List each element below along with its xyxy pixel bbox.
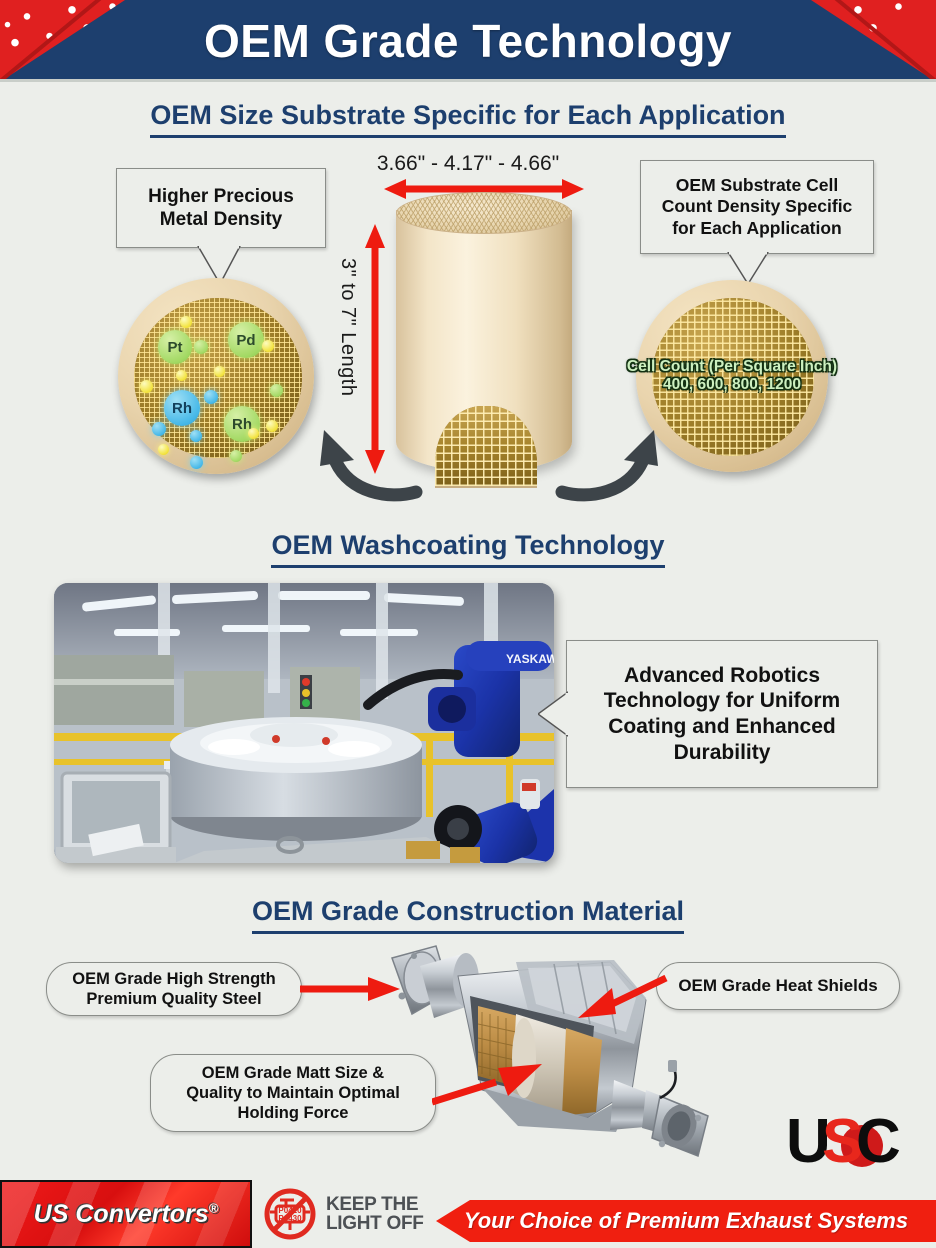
metal-dot bbox=[176, 370, 187, 381]
cell-count-values: 400, 600, 800, 1200 bbox=[598, 376, 866, 394]
callout-line: Metal Density bbox=[160, 208, 282, 231]
metal-dot bbox=[180, 316, 192, 328]
factory-scene-illustration: YASKAWA bbox=[54, 583, 554, 863]
svg-text:C: C bbox=[856, 1108, 901, 1170]
callout-line: OEM Grade Matt Size & bbox=[202, 1063, 384, 1083]
brand-panel: US Convertors® bbox=[0, 1180, 252, 1248]
callout-line: OEM Grade Heat Shields bbox=[678, 976, 877, 997]
substrate-length-label: 3" to 7" Length bbox=[336, 258, 359, 396]
arrow-to-matt-icon bbox=[432, 1060, 542, 1108]
metal-dot bbox=[270, 384, 283, 397]
section-heading-construction: OEM Grade Construction Material bbox=[0, 896, 936, 934]
section-heading-washcoating: OEM Washcoating Technology bbox=[0, 530, 936, 568]
callout-line: OEM Substrate Cell bbox=[676, 175, 838, 196]
no-check-engine-light-icon: P0420 P0430 bbox=[262, 1186, 318, 1242]
page-header: OEM Grade Technology bbox=[0, 0, 936, 82]
callout-line: Advanced Robotics bbox=[624, 663, 820, 689]
tagline-banner: Your Choice of Premium Exhaust Systems bbox=[436, 1200, 936, 1242]
callout-line: Count Density Specific bbox=[662, 196, 853, 217]
callout-advanced-robotics: Advanced Robotics Technology for Uniform… bbox=[566, 640, 878, 788]
keep-light-off-text: KEEP THE LIGHT OFF bbox=[326, 1195, 424, 1234]
curved-arrow-right-icon bbox=[552, 404, 682, 504]
metal-dot bbox=[204, 390, 218, 404]
metal-bubble-pt: Pt bbox=[158, 330, 192, 364]
infographic-page: OEM Grade Technology OEM Size Substrate … bbox=[0, 0, 936, 1248]
callout-line: OEM Grade High Strength bbox=[72, 969, 276, 989]
svg-text:YASKAWA: YASKAWA bbox=[506, 652, 554, 666]
substrate-disc-precious-metals: Pt Pd Rh Rh bbox=[118, 278, 314, 474]
substrate-diameter-label: 3.66" - 4.17" - 4.66" bbox=[377, 152, 559, 176]
callout-precious-metal-density: Higher Precious Metal Density bbox=[116, 168, 326, 248]
metal-dot bbox=[190, 430, 202, 442]
callout-line: for Each Application bbox=[672, 218, 842, 239]
metal-dot bbox=[262, 340, 274, 352]
usc-logo: U S C bbox=[786, 1108, 914, 1170]
callout-line: Holding Force bbox=[238, 1103, 349, 1123]
section-heading-substrate: OEM Size Substrate Specific for Each App… bbox=[0, 100, 936, 138]
metal-dot bbox=[158, 444, 169, 455]
metal-dot bbox=[248, 428, 259, 439]
registered-mark: ® bbox=[209, 1200, 219, 1215]
metal-dot bbox=[214, 366, 225, 377]
callout-line: Coating and Enhanced bbox=[608, 714, 836, 740]
arrow-to-heat-shield-icon bbox=[578, 972, 670, 1020]
callout-line: Durability bbox=[674, 740, 771, 766]
callout-line: Technology for Uniform bbox=[604, 688, 840, 714]
metal-bubble-pd: Pd bbox=[228, 322, 264, 358]
callout-cell-count-density: OEM Substrate Cell Count Density Specifi… bbox=[640, 160, 874, 254]
washcoating-robot-photo: YASKAWA bbox=[54, 583, 554, 863]
arrow-to-steel-icon bbox=[300, 976, 400, 1002]
metal-dot bbox=[140, 380, 153, 393]
cell-count-annotation: Cell Count (Per Square Inch) 400, 600, 8… bbox=[598, 358, 866, 394]
metal-dot bbox=[266, 420, 278, 432]
page-title: OEM Grade Technology bbox=[0, 0, 936, 82]
callout-heat-shields: OEM Grade Heat Shields bbox=[656, 962, 900, 1010]
callout-line: Premium Quality Steel bbox=[86, 989, 261, 1009]
callout-line: Quality to Maintain Optimal bbox=[186, 1083, 400, 1103]
callout-high-strength-steel: OEM Grade High Strength Premium Quality … bbox=[46, 962, 302, 1016]
callout-tail-washcoating-icon bbox=[538, 690, 568, 738]
callout-line: Higher Precious bbox=[148, 185, 294, 208]
keep-line-2: LIGHT OFF bbox=[326, 1214, 424, 1233]
cell-count-title: Cell Count (Per Square Inch) bbox=[598, 358, 866, 376]
metal-bubble-rh-blue: Rh bbox=[164, 390, 200, 426]
callout-matt-size-quality: OEM Grade Matt Size & Quality to Maintai… bbox=[150, 1054, 436, 1132]
metal-dot bbox=[152, 422, 166, 436]
metal-dot bbox=[230, 450, 242, 462]
metal-dot bbox=[194, 340, 208, 354]
header-divider bbox=[0, 79, 936, 82]
page-footer: US Convertors® P0420 P0430 KEEP THE bbox=[0, 1174, 936, 1248]
keep-line-1: KEEP THE bbox=[326, 1195, 424, 1214]
curved-arrow-left-icon bbox=[296, 404, 426, 504]
brand-name: US Convertors® bbox=[34, 1200, 219, 1229]
metal-dot bbox=[190, 456, 203, 469]
keep-light-off-badge: P0420 P0430 KEEP THE LIGHT OFF bbox=[262, 1186, 424, 1242]
